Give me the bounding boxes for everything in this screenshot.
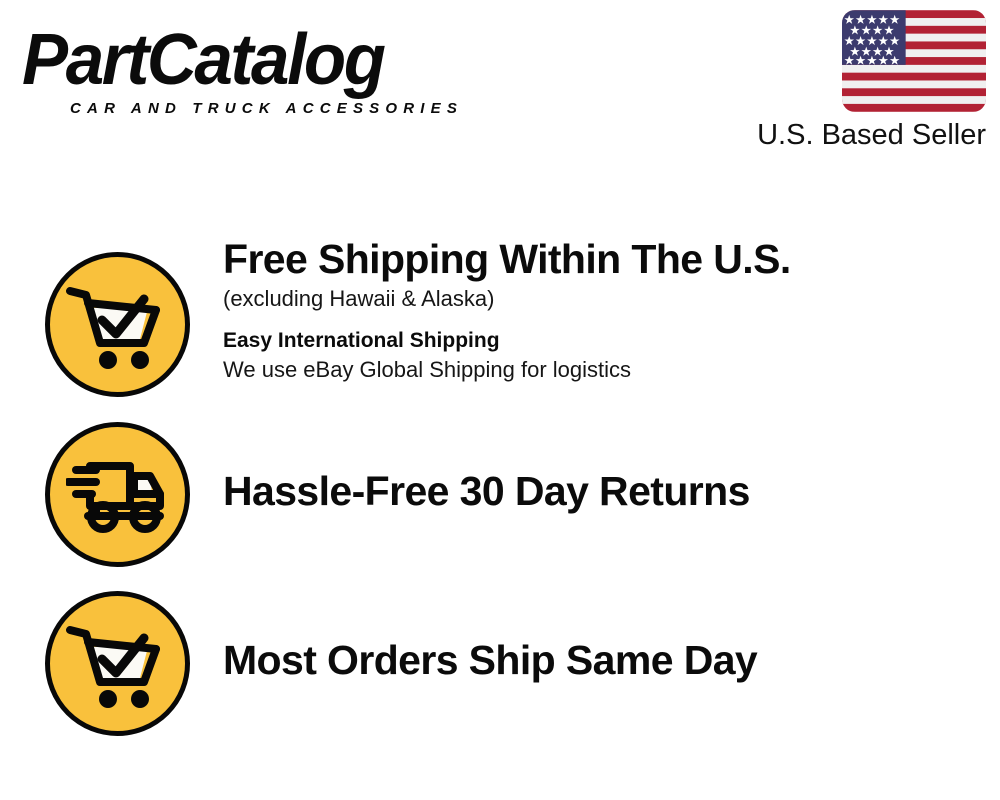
feature-note: (excluding Hawaii & Alaska) — [223, 285, 980, 313]
feature-text-free-shipping: Free Shipping Within The U.S. (excluding… — [223, 236, 980, 384]
feature-sub-title: Easy International Shipping — [223, 328, 980, 354]
seller-badge: U.S. Based Seller — [724, 10, 986, 152]
brand-logo: PartCatalog CAR AND TRUCK ACCESSORIES — [22, 22, 492, 117]
feature-row-same-day: Most Orders Ship Same Day — [0, 580, 1000, 752]
brand-wordmark: PartCatalog — [22, 22, 384, 98]
feature-title: Free Shipping Within The U.S. — [223, 236, 980, 282]
seller-badge-label: U.S. Based Seller — [724, 118, 986, 152]
brand-tagline: CAR AND TRUCK ACCESSORIES — [70, 100, 463, 117]
feature-row-returns: Hassle-Free 30 Day Returns — [0, 408, 1000, 580]
delivery-truck-icon — [45, 422, 190, 567]
feature-title: Hassle-Free 30 Day Returns — [223, 468, 980, 514]
feature-text-returns: Hassle-Free 30 Day Returns — [223, 468, 980, 514]
features-list: Free Shipping Within The U.S. (excluding… — [0, 236, 1000, 752]
us-flag-icon — [842, 10, 986, 112]
feature-row-free-shipping: Free Shipping Within The U.S. (excluding… — [0, 236, 1000, 408]
feature-sub-note: We use eBay Global Shipping for logistic… — [223, 356, 980, 384]
feature-title: Most Orders Ship Same Day — [223, 637, 980, 683]
shopping-cart-check-icon — [45, 252, 190, 397]
feature-text-same-day: Most Orders Ship Same Day — [223, 637, 980, 683]
shopping-cart-check-icon — [45, 591, 190, 736]
banner-header: PartCatalog CAR AND TRUCK ACCESSORIES — [0, 0, 1000, 170]
